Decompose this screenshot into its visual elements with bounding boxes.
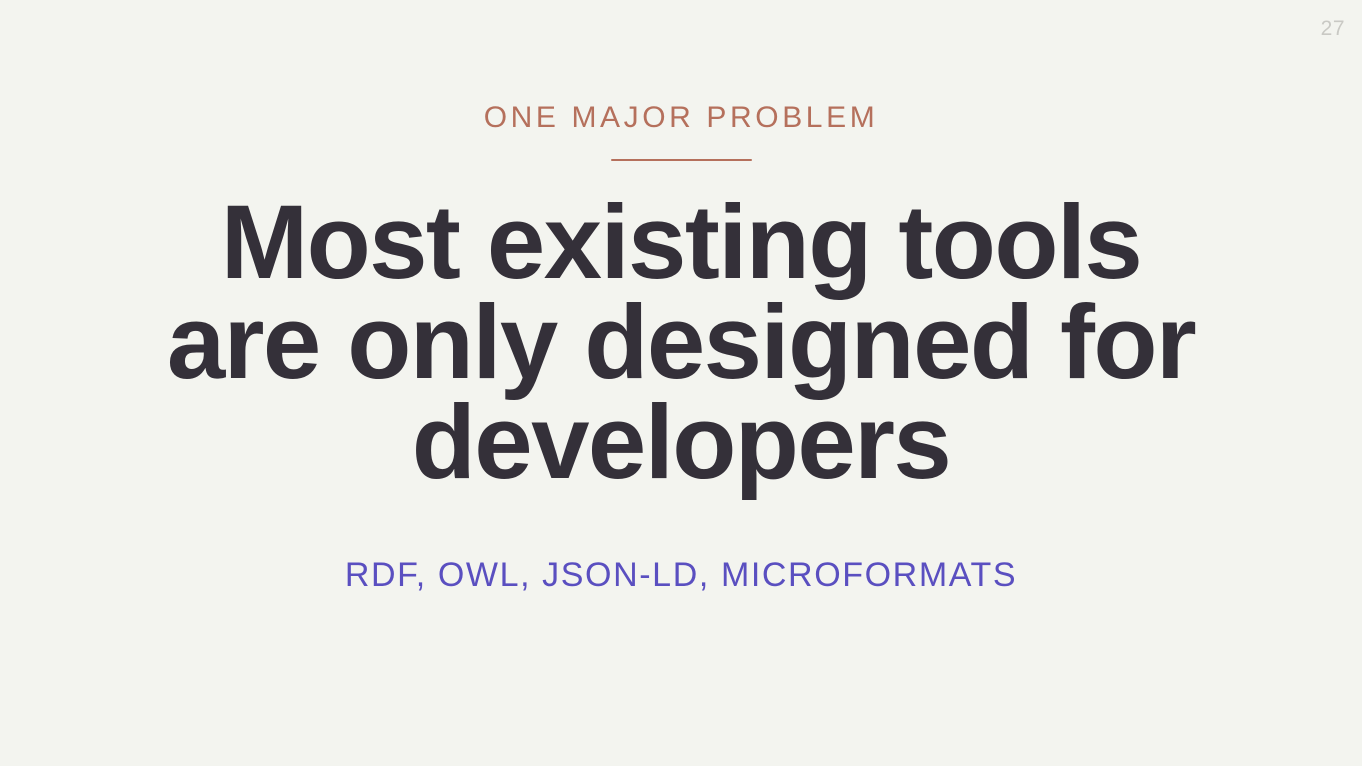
presentation-slide: 27 ONE MAJOR PROBLEM Most existing tools… bbox=[0, 0, 1362, 766]
headline-line-1: Most existing tools bbox=[167, 193, 1195, 293]
divider-rule bbox=[611, 159, 752, 161]
page-title: Most existing tools are only designed fo… bbox=[167, 193, 1195, 493]
subtitle-label: RDF, OWL, JSON-LD, MICROFORMATS bbox=[345, 555, 1017, 596]
slide-content: ONE MAJOR PROBLEM Most existing tools ar… bbox=[0, 0, 1362, 766]
kicker-label: ONE MAJOR PROBLEM bbox=[484, 101, 879, 136]
headline-line-2: are only designed for bbox=[167, 293, 1195, 393]
headline-line-3: developers bbox=[167, 393, 1195, 493]
